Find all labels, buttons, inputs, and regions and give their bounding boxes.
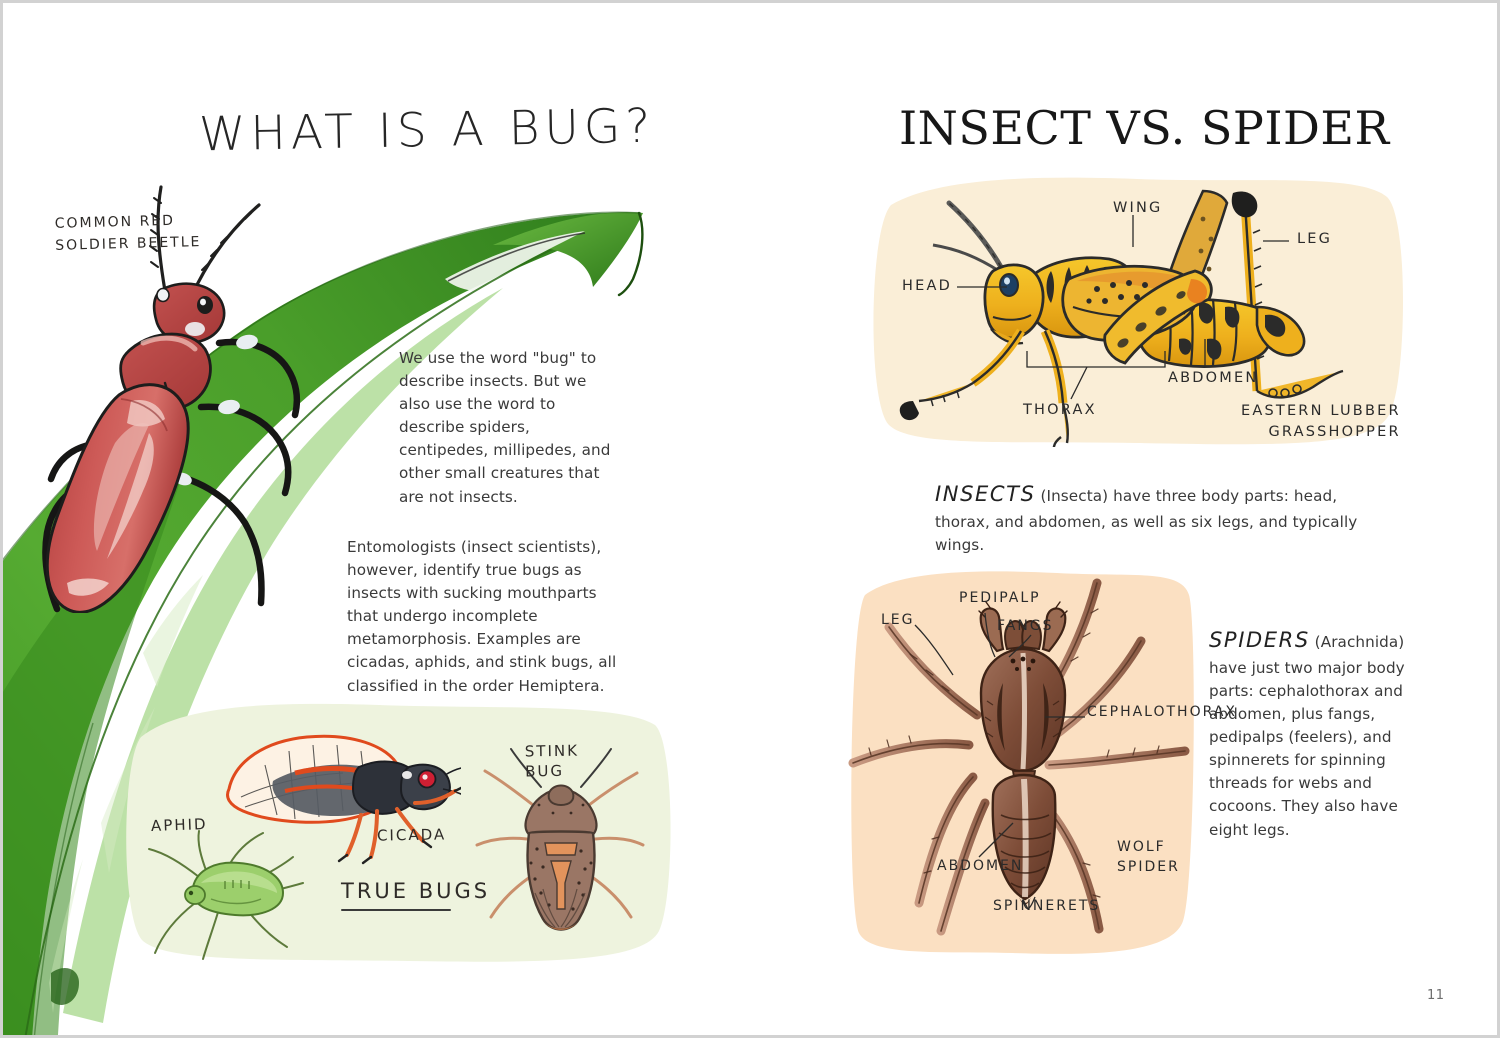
caption-true-bugs: TRUE BUGS: [341, 877, 490, 905]
right-page: INSECT VS. SPIDER: [753, 3, 1500, 1035]
label-spider-species: WOLF SPIDER: [1117, 837, 1180, 878]
label-spider-pedipalp: PEDIPALP: [959, 589, 1041, 608]
label-grasshopper-leg: LEG: [1297, 229, 1332, 249]
label-stink-bug: STINK BUG: [525, 741, 580, 782]
label-spider-fangs: FANGS: [997, 617, 1054, 636]
label-spider-leg: LEG: [881, 611, 915, 630]
paragraph-entomologists: Entomologists (insect scientists), howev…: [347, 536, 622, 698]
label-grasshopper-abdomen: ABDOMEN: [1168, 368, 1258, 388]
true-bugs-underline: [341, 909, 451, 911]
spiders-lead-word: SPIDERS: [1209, 628, 1310, 652]
label-grasshopper-species: EASTERN LUBBER GRASSHOPPER: [1241, 401, 1401, 442]
label-grasshopper-thorax: THORAX: [1023, 400, 1097, 420]
left-page: COMMON RED SOLDIER BEETLE WHAT IS A BUG?…: [3, 3, 753, 1035]
page-title-insect-vs-spider: INSECT VS. SPIDER: [899, 101, 1390, 155]
paragraph-insects: INSECTS (Insecta) have three body parts:…: [935, 479, 1375, 557]
page-title-what-is-a-bug: WHAT IS A BUG?: [199, 99, 656, 163]
paragraph-bug-definition: We use the word "bug" to describe insect…: [399, 347, 614, 509]
label-grasshopper-head: HEAD: [902, 276, 952, 296]
label-spider-spinnerets: SPINNERETS: [993, 897, 1100, 916]
spiders-rest-text: (Arachnida) have just two major body par…: [1209, 633, 1405, 839]
insects-lead-word: INSECTS: [935, 482, 1036, 506]
true-bugs-panel: APHID CICADA STINK BUG TRUE BUGS: [119, 697, 679, 969]
label-spider-abdomen: ABDOMEN: [937, 857, 1023, 876]
beetle-label: COMMON RED SOLDIER BEETLE: [54, 209, 201, 258]
grasshopper-diagram-panel: WING LEG HEAD ABDOMEN THORAX EASTERN LUB…: [865, 171, 1410, 453]
book-spread: COMMON RED SOLDIER BEETLE WHAT IS A BUG?…: [0, 0, 1500, 1038]
paragraph-spiders: SPIDERS (Arachnida) have just two major …: [1209, 625, 1409, 842]
page-number: 11: [1427, 988, 1445, 1003]
spider-diagram-panel: LEG PEDIPALP FANGS CEPHALOTHORAX ABDOMEN…: [845, 565, 1197, 965]
label-grasshopper-wing: WING: [1113, 198, 1163, 218]
label-cicada: CICADA: [377, 824, 447, 845]
label-aphid: APHID: [151, 814, 208, 836]
